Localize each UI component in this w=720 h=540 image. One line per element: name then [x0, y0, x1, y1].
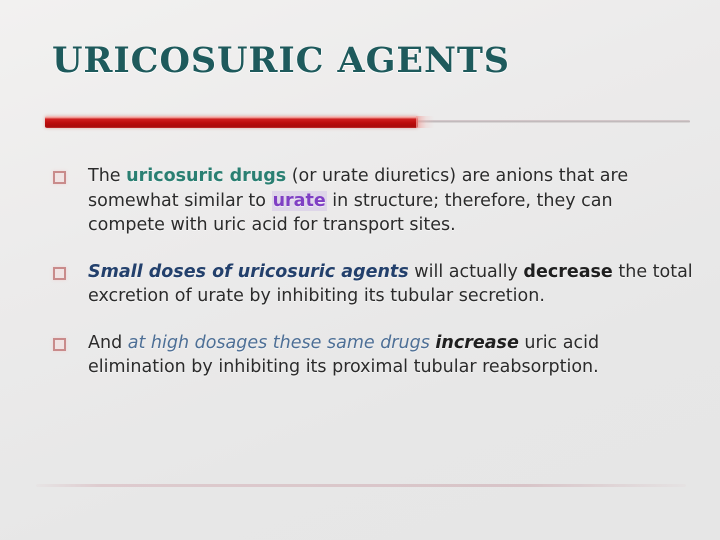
emphasis-bold-italic-navy: Small doses of uricosuric agents: [88, 262, 409, 282]
list-item: Small doses of uricosuric agents will ac…: [0, 260, 720, 309]
hollow-square-bullet-icon: [53, 171, 66, 184]
hollow-square-bullet-icon: [53, 267, 66, 280]
hollow-square-bullet-icon: [53, 338, 66, 351]
page-title: URICOSURIC AGENTS: [0, 38, 720, 84]
bullet-text-1: The uricosuric drugs (or urate diuretics…: [88, 164, 694, 238]
emphasis-bold-purple: urate: [272, 191, 327, 211]
emphasis-bold-dark: decrease: [523, 262, 612, 282]
divider-red-bar: [45, 116, 418, 128]
emphasis-bold-teal: uricosuric drugs: [126, 166, 286, 186]
list-item: And at high dosages these same drugs inc…: [0, 331, 720, 380]
emphasis-italic-steel: at high dosages these same drugs: [128, 333, 430, 353]
bullet-text-2: Small doses of uricosuric agents will ac…: [88, 260, 694, 309]
title-divider: [45, 116, 690, 128]
title-block: URICOSURIC AGENTS: [0, 38, 720, 100]
bullet-text-3: And at high dosages these same drugs inc…: [88, 331, 694, 380]
emphasis-bold-italic-dark: increase: [435, 333, 518, 353]
bullet-list: The uricosuric drugs (or urate diuretics…: [0, 164, 720, 402]
list-item: The uricosuric drugs (or urate diuretics…: [0, 164, 720, 238]
footer-divider: [36, 484, 686, 487]
presentation-slide: URICOSURIC AGENTS The uricosuric drugs (…: [0, 0, 720, 540]
